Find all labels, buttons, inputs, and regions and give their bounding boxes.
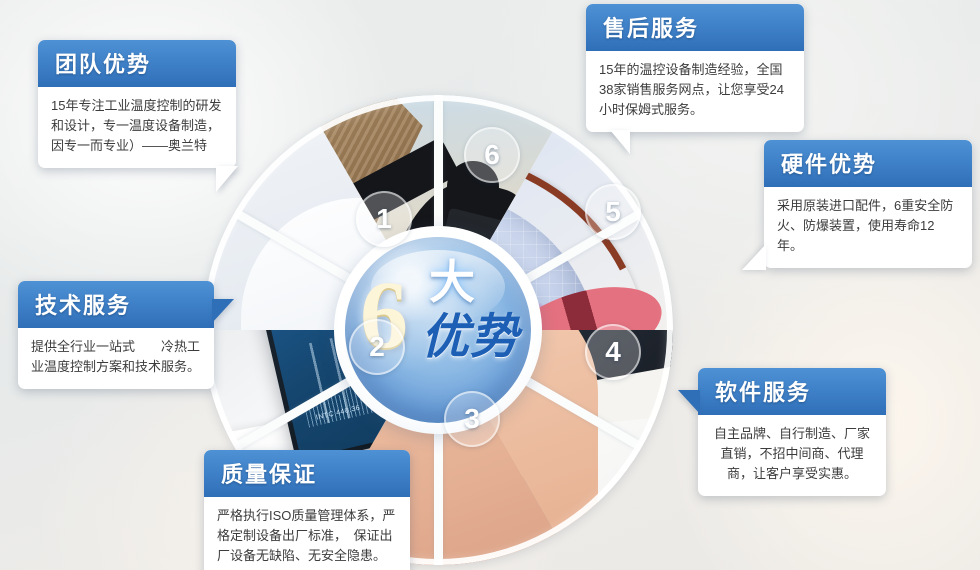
- callout-tail: [212, 299, 234, 323]
- callout-title: 团队优势: [38, 40, 236, 87]
- badge-label: 2: [369, 331, 385, 363]
- infographic-poster: INTC 440.36 6 大 优势: [0, 0, 980, 570]
- callout-body: 采用原装进口配件，6重安全防火、防爆装置，使用寿命12年。: [764, 187, 972, 268]
- callout-software-service[interactable]: 软件服务 自主品牌、自行制造、厂家直销，不招中间商、代理商，让客户享受实惠。: [698, 368, 886, 496]
- segment-badge-6[interactable]: 6: [464, 127, 520, 183]
- callout-tail: [216, 166, 238, 192]
- callout-title: 硬件优势: [764, 140, 972, 187]
- callout-title: 软件服务: [698, 368, 886, 415]
- callout-body: 15年的温控设备制造经验，全国38家销售服务网点，让您享受24小时保姆式服务。: [586, 51, 804, 132]
- callout-body: 提供全行业一站式 冷热工业温度控制方案和技术服务。: [18, 328, 214, 389]
- segment-badge-1[interactable]: 1: [356, 191, 412, 247]
- segment-badge-2[interactable]: 2: [349, 319, 405, 375]
- callout-tail: [742, 244, 766, 270]
- segment-badge-3[interactable]: 3: [444, 391, 500, 447]
- callout-title: 售后服务: [586, 4, 804, 51]
- callout-team-advantage[interactable]: 团队优势 15年专注工业温度控制的研发和设计，专一温度设备制造，因专一而专业）—…: [38, 40, 236, 168]
- badge-label: 1: [376, 203, 392, 235]
- callout-tail: [678, 390, 700, 414]
- badge-label: 3: [464, 403, 480, 435]
- center-subtitle: 优势: [421, 313, 519, 363]
- callout-title: 技术服务: [18, 281, 214, 328]
- callout-after-sales-service[interactable]: 售后服务 15年的温控设备制造经验，全国38家销售服务网点，让您享受24小时保姆…: [586, 4, 804, 132]
- callout-hardware-advantage[interactable]: 硬件优势 采用原装进口配件，6重安全防火、防爆装置，使用寿命12年。: [764, 140, 972, 268]
- center-big-word: 大: [429, 259, 475, 305]
- callout-title: 质量保证: [204, 450, 410, 497]
- callout-quality-assurance[interactable]: 质量保证 严格执行ISO质量管理体系，严格定制设备出厂标准， 保证出厂设备无缺陷…: [204, 450, 410, 570]
- badge-label: 6: [484, 139, 500, 171]
- segment-badge-5[interactable]: 5: [585, 184, 641, 240]
- segment-badge-4[interactable]: 4: [585, 324, 641, 380]
- badge-label: 5: [605, 196, 621, 228]
- callout-body: 自主品牌、自行制造、厂家直销，不招中间商、代理商，让客户享受实惠。: [698, 415, 886, 496]
- callout-body: 15年专注工业温度控制的研发和设计，专一温度设备制造，因专一而专业）——奥兰特: [38, 87, 236, 168]
- badge-label: 4: [605, 336, 621, 368]
- callout-tail: [610, 130, 630, 154]
- callout-technical-service[interactable]: 技术服务 提供全行业一站式 冷热工业温度控制方案和技术服务。: [18, 281, 214, 389]
- callout-body: 严格执行ISO质量管理体系，严格定制设备出厂标准， 保证出厂设备无缺陷、无安全隐…: [204, 497, 410, 570]
